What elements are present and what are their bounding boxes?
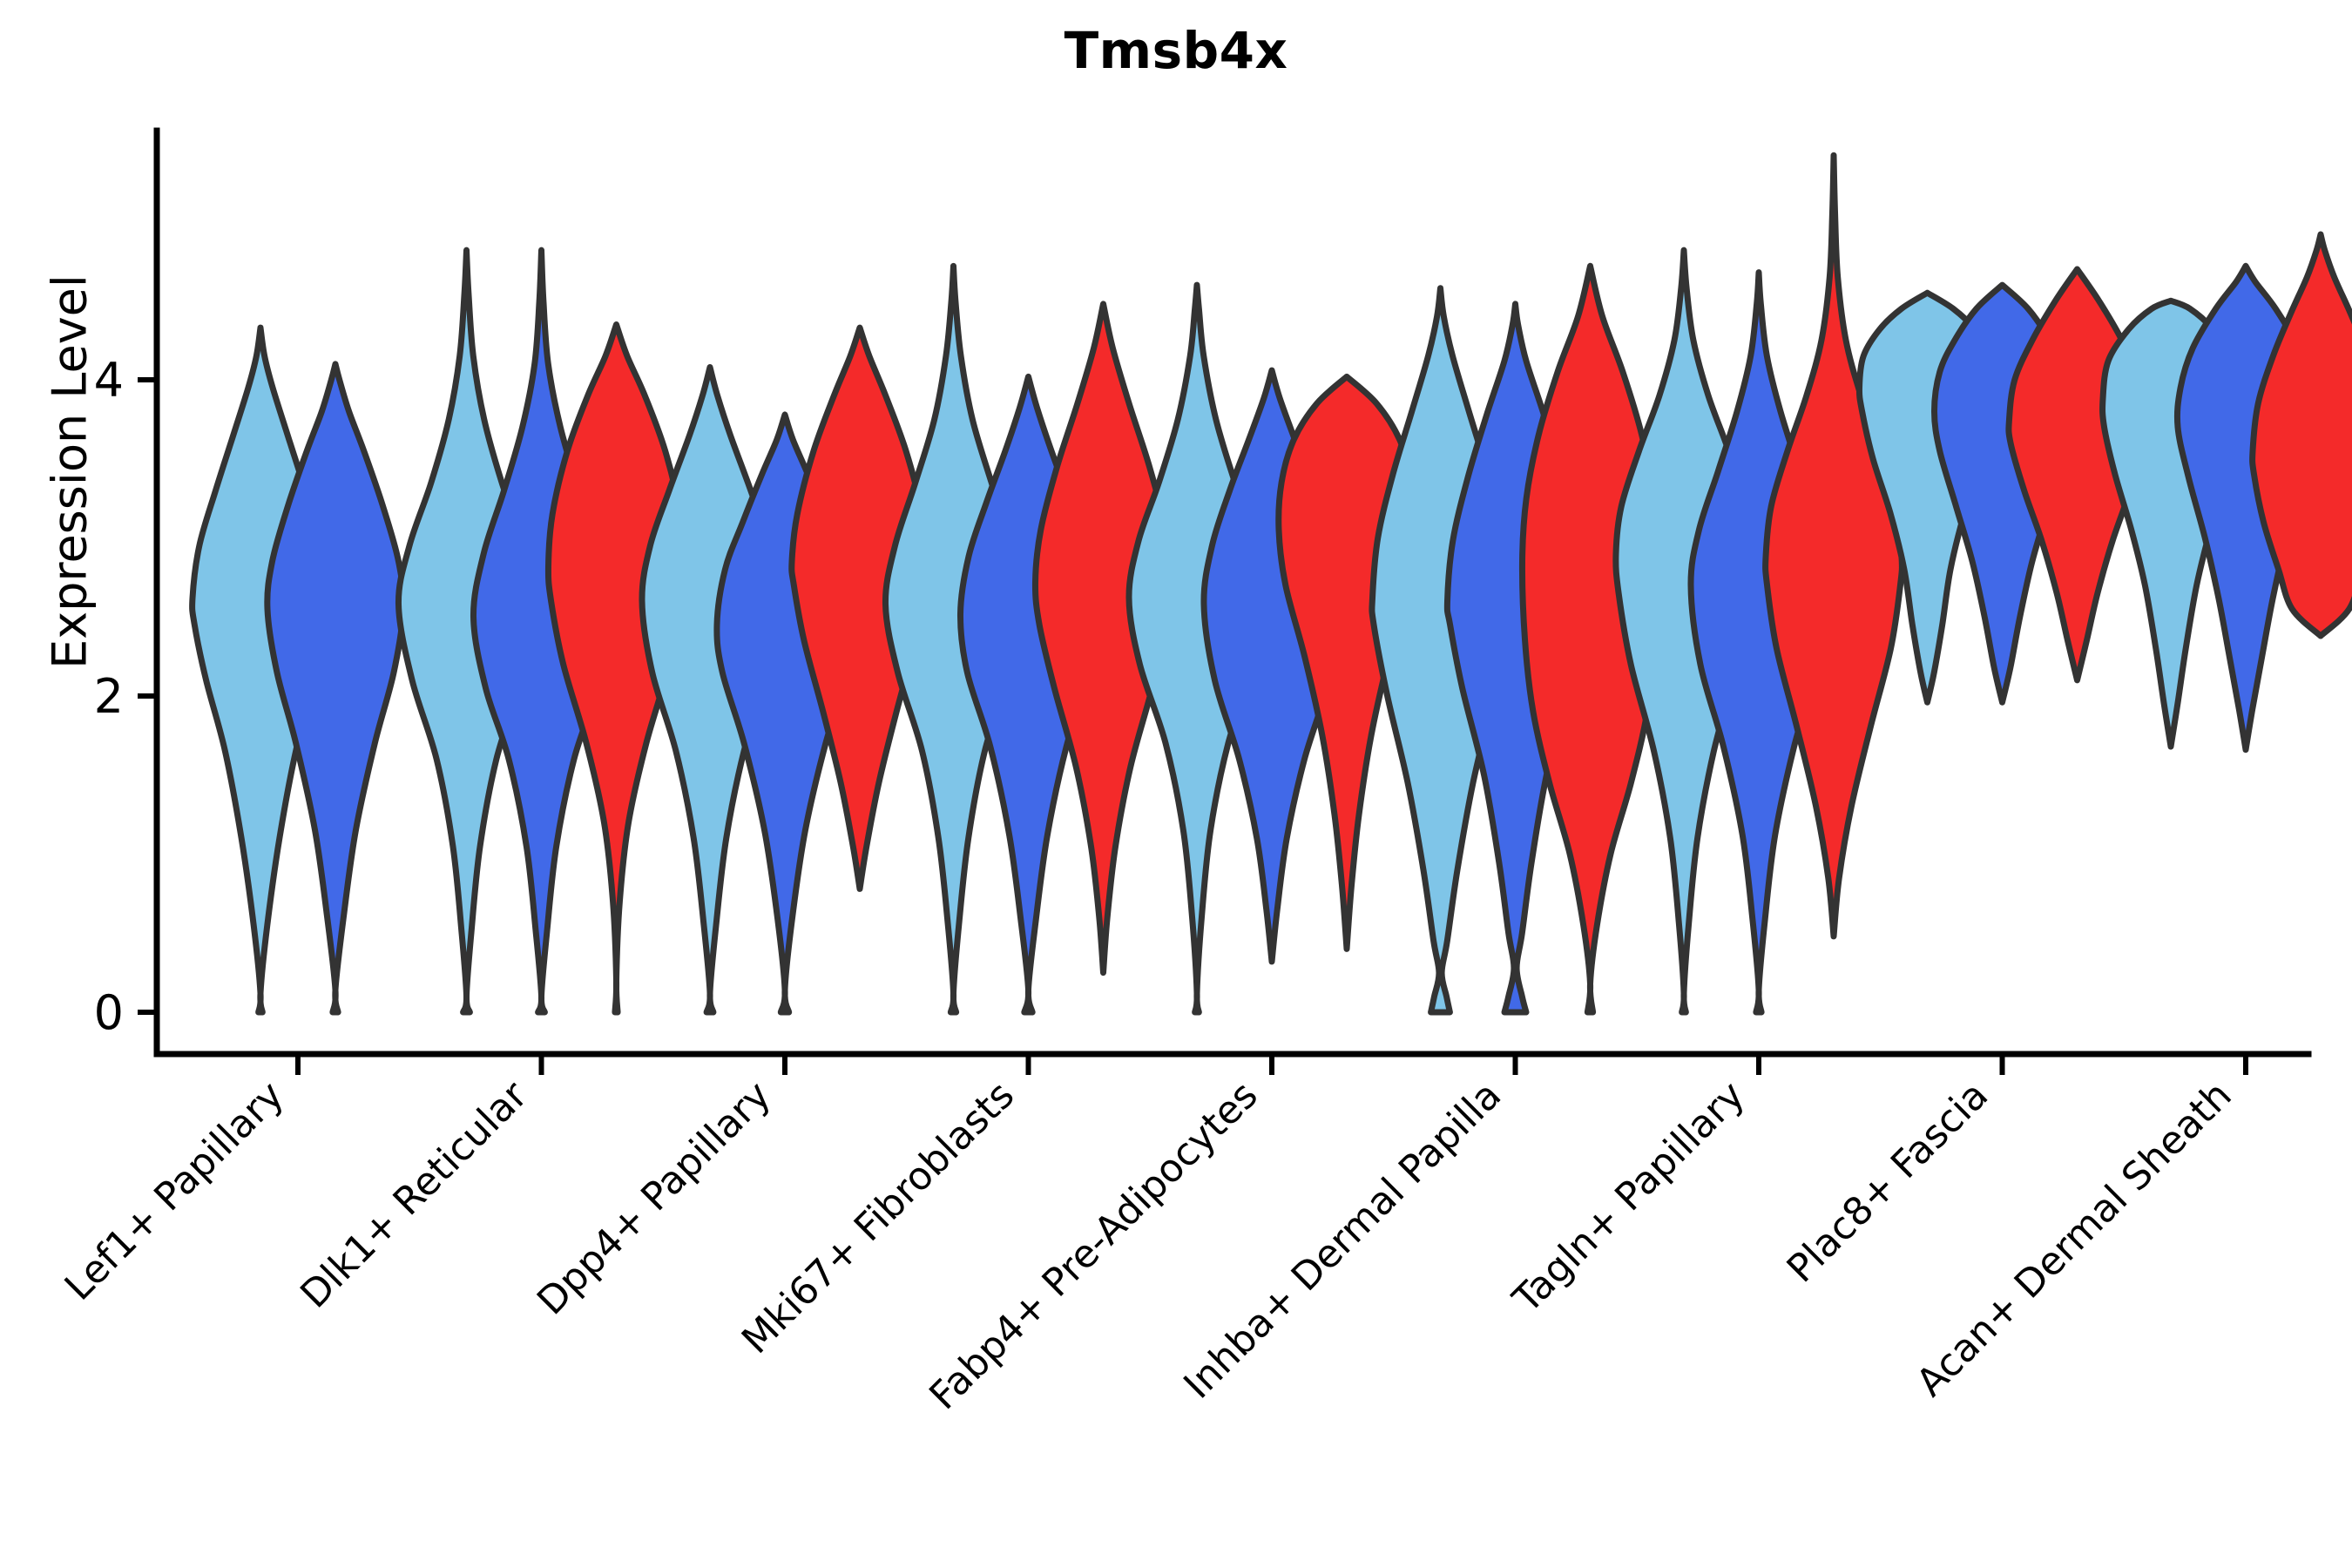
y-tick-label: 2 xyxy=(94,669,124,724)
violin-plot-figure: Tmsb4x Expression Level 024 Lef1+ Papill… xyxy=(0,0,2352,1568)
x-tick-label-dpp4-papillary: Dpp4+ Papillary xyxy=(529,1073,780,1324)
y-tick-label: 0 xyxy=(94,985,124,1040)
x-tick-label-lef1-papillary: Lef1+ Papillary xyxy=(57,1073,293,1309)
x-tick-label-mki67-fibroblasts: Mki67+ Fibroblasts xyxy=(733,1073,1023,1362)
x-tick-label-plac8-fascia: Plac8+ Fascia xyxy=(1779,1073,1997,1292)
violins-layer xyxy=(193,155,2352,1012)
violin-tagln-papillary-red xyxy=(1766,155,1903,936)
x-tick-label-tagln-papillary: Tagln+ Papillary xyxy=(1504,1073,1754,1322)
y-tick-label: 4 xyxy=(94,353,124,408)
y-axis-ticks: 024 xyxy=(94,353,157,1040)
x-tick-label-dlk1-reticular: Dlk1+ Reticular xyxy=(292,1072,537,1317)
chart-canvas: 024 Lef1+ PapillaryDlk1+ ReticularDpp4+ … xyxy=(0,0,2352,1568)
x-axis-ticks: Lef1+ PapillaryDlk1+ ReticularDpp4+ Papi… xyxy=(57,1054,2246,1418)
